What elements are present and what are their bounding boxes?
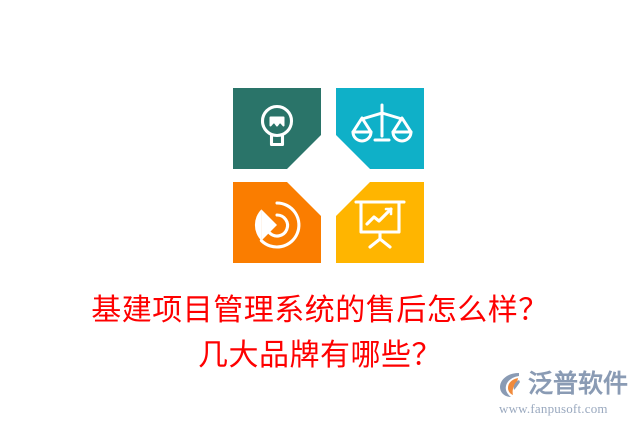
logo-wordmark: 泛普软件 (528, 371, 628, 399)
headline: 基建项目管理系统的售后怎么样？ 几大品牌有哪些？ (0, 288, 640, 378)
tile-top-right (336, 88, 424, 169)
tile-bottom-left-shape (233, 182, 321, 263)
tile-top-right-shape (336, 88, 424, 169)
logo-row: 泛普软件 (497, 369, 633, 400)
logo-url: www.fanpusoft.com (499, 401, 633, 417)
tile-top-left (233, 88, 321, 169)
hero-graphic (233, 88, 424, 263)
headline-line-1: 基建项目管理系统的售后怎么样？ (0, 288, 640, 333)
tile-top-left-shape (233, 88, 321, 169)
tile-bottom-right (336, 182, 424, 263)
fanpu-swoosh-logo-icon (497, 370, 527, 400)
brand-logo: 泛普软件 www.fanpusoft.com (497, 369, 633, 419)
tile-bottom-left (233, 182, 321, 263)
tile-bottom-right-shape (336, 182, 424, 263)
